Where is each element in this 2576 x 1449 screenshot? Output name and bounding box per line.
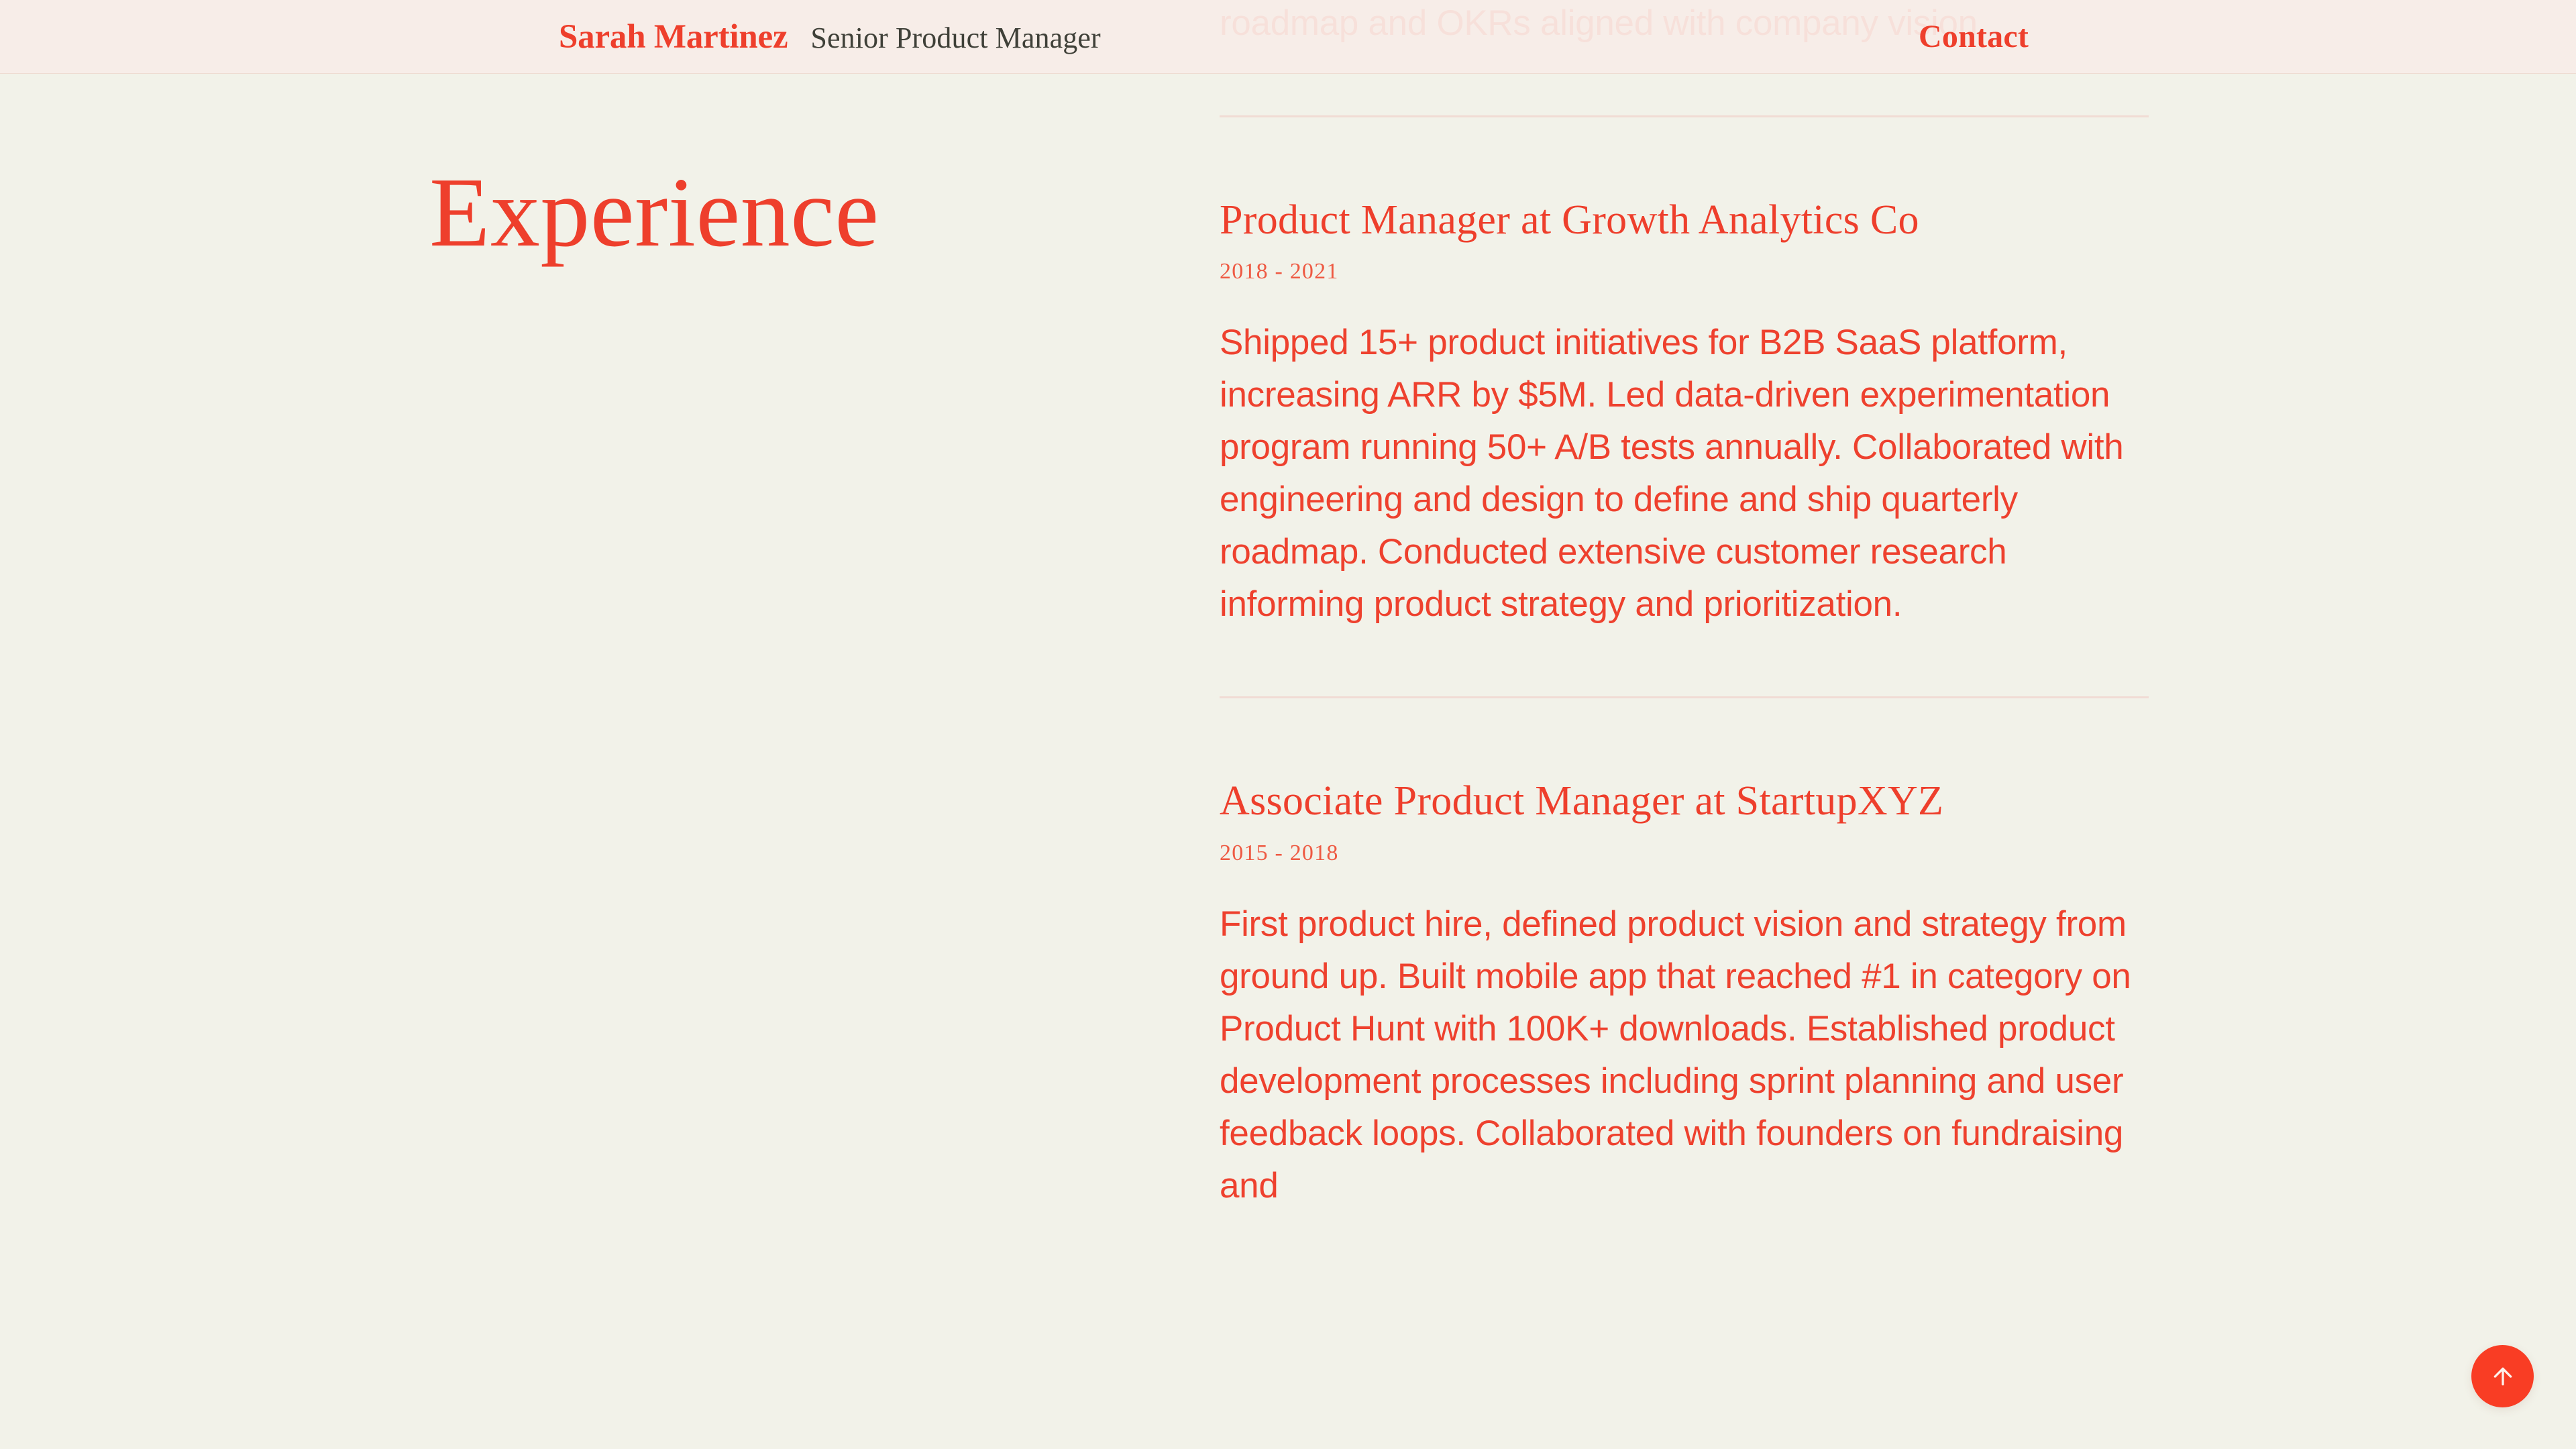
site-header: Sarah Martinez Senior Product Manager Co… <box>0 0 2576 74</box>
experience-list: 20+ product managers and a cross-functio… <box>1220 0 2149 1212</box>
brand-group: Sarah Martinez Senior Product Manager <box>559 17 1101 56</box>
job-dates: 2015 - 2018 <box>1220 841 2149 866</box>
nav-link-contact[interactable]: Contact <box>1919 18 2029 55</box>
job-dates: 2018 - 2021 <box>1220 259 2149 284</box>
list-item: Associate Product Manager at StartupXYZ … <box>1220 777 2149 1212</box>
scroll-to-top-button[interactable] <box>2471 1345 2534 1407</box>
job-title: Product Manager at Growth Analytics Co <box>1220 197 2149 244</box>
list-item: Product Manager at Growth Analytics Co 2… <box>1220 197 2149 777</box>
job-description: Shipped 15+ product initiatives for B2B … <box>1220 317 2149 631</box>
experience-section: Experience 20+ product managers and a cr… <box>0 0 2576 1449</box>
brand-name[interactable]: Sarah Martinez <box>559 17 788 56</box>
page-title: Experience <box>429 163 879 262</box>
job-description: First product hire, defined product visi… <box>1220 898 2149 1212</box>
arrow-up-icon <box>2489 1363 2516 1390</box>
brand-role: Senior Product Manager <box>810 21 1100 55</box>
job-title: Associate Product Manager at StartupXYZ <box>1220 777 2149 825</box>
